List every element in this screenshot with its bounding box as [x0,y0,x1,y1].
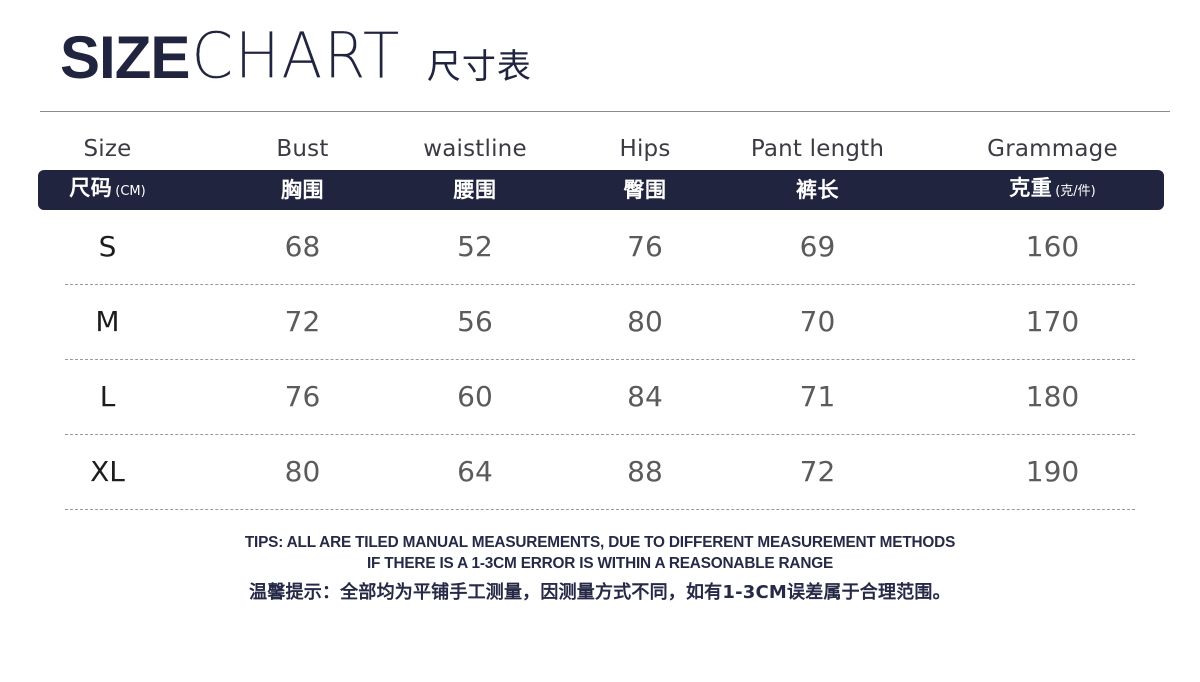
header-cn-waistline: 腰围 [390,170,560,210]
cell-grammage: 190 [905,435,1200,509]
size-chart-page: SIZE CHART 尺寸表 Size Bust waistline Hips … [0,0,1200,682]
cell-bust: 80 [215,435,390,509]
cell-pant-length: 72 [730,435,905,509]
table-row: M 72 56 80 70 170 [0,285,1200,359]
cell-grammage: 170 [905,285,1200,359]
title-size-word: SIZE [60,28,189,88]
row-divider-line [65,509,1135,510]
cell-bust: 76 [215,360,390,434]
cell-size: L [0,360,215,434]
cell-size: M [0,285,215,359]
cell-bust: 72 [215,285,390,359]
cell-pant-length: 71 [730,360,905,434]
header-en-size: Size [0,128,215,170]
row-divider-line [65,284,1135,285]
header-en-grammage: Grammage [905,128,1200,170]
cell-grammage: 160 [905,210,1200,284]
header-cn-size: 尺码(CM) [0,168,215,212]
size-table: Size Bust waistline Hips Pant length Gra… [0,128,1200,510]
header-cn-size-unit: (CM) [115,184,145,199]
row-divider-line [65,434,1135,435]
header-en-bust: Bust [215,128,390,170]
cell-waistline: 60 [390,360,560,434]
header-en-pant-length: Pant length [730,128,905,170]
row-divider [0,359,1200,360]
table-row: L 76 60 84 71 180 [0,360,1200,434]
header-cn-bust: 胸围 [215,170,390,210]
page-title: SIZE CHART 尺寸表 [60,28,532,88]
tips-line-2: IF THERE IS A 1-3CM ERROR IS WITHIN A RE… [24,553,1176,574]
tips-block: TIPS: ALL ARE TILED MANUAL MEASUREMENTS,… [0,532,1200,605]
title-divider [40,111,1170,112]
row-divider [0,509,1200,510]
table-row: S 68 52 76 69 160 [0,210,1200,284]
header-cn-grammage-text: 克重 [1009,176,1052,200]
header-cn-grammage-unit: (克/件) [1055,184,1096,199]
cell-grammage: 180 [905,360,1200,434]
table-header-english: Size Bust waistline Hips Pant length Gra… [0,128,1200,170]
table-header-band: 尺码(CM) 胸围 腰围 臀围 裤长 克重(克/件) [0,170,1200,210]
cell-hips: 84 [560,360,730,434]
row-divider [0,434,1200,435]
cell-hips: 88 [560,435,730,509]
cell-pant-length: 69 [730,210,905,284]
header-cn-grammage: 克重(克/件) [905,168,1200,212]
header-en-hips: Hips [560,128,730,170]
cell-size: XL [0,435,215,509]
cell-pant-length: 70 [730,285,905,359]
cell-waistline: 64 [390,435,560,509]
tips-line-chinese: 温馨提示：全部均为平铺手工测量，因测量方式不同，如有1-3CM误差属于合理范围。 [0,581,1200,605]
table-header-chinese: 尺码(CM) 胸围 腰围 臀围 裤长 克重(克/件) [0,170,1200,210]
table-row: XL 80 64 88 72 190 [0,435,1200,509]
title-chart-word: CHART [191,24,401,88]
title-chinese: 尺寸表 [427,50,532,84]
row-divider [0,284,1200,285]
cell-hips: 80 [560,285,730,359]
cell-hips: 76 [560,210,730,284]
cell-bust: 68 [215,210,390,284]
header-en-waistline: waistline [390,128,560,170]
header-cn-pant-length: 裤长 [730,170,905,210]
header-cn-hips: 臀围 [560,170,730,210]
row-divider-line [65,359,1135,360]
cell-waistline: 52 [390,210,560,284]
header-cn-size-text: 尺码 [69,176,112,200]
cell-size: S [0,210,215,284]
cell-waistline: 56 [390,285,560,359]
tips-line-1: TIPS: ALL ARE TILED MANUAL MEASUREMENTS,… [24,532,1176,553]
